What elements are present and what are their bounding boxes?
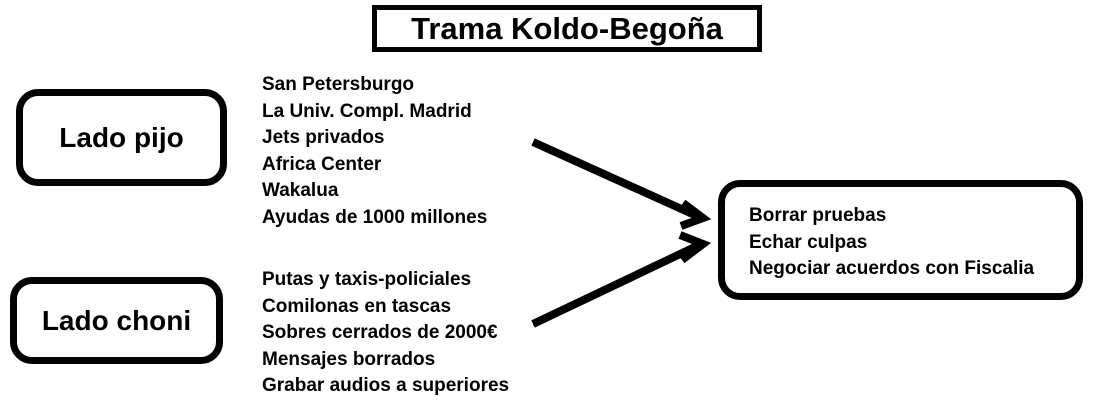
list-item: Negociar acuerdos con Fiscalia (749, 256, 1034, 283)
list-item: Wakalua (262, 178, 487, 205)
diagram-canvas: Trama Koldo-Begoña Lado pijo San Petersb… (0, 0, 1097, 406)
lado-pijo-label: Lado pijo (59, 122, 183, 154)
list-item: Echar culpas (749, 230, 1034, 257)
list-item: Putas y taxis-policiales (262, 267, 509, 294)
list-item: Mensajes borrados (262, 347, 509, 374)
lado-pijo-list: San Petersburgo La Univ. Compl. Madrid J… (262, 72, 487, 231)
list-item: Sobres cerrados de 2000€ (262, 320, 509, 347)
list-item: Ayudas de 1000 millones (262, 205, 487, 232)
list-item: San Petersburgo (262, 72, 487, 99)
list-item: Africa Center (262, 152, 487, 179)
lado-choni-label: Lado choni (42, 305, 191, 337)
list-item: Borrar pruebas (749, 203, 1034, 230)
arrow-choni-to-outcome (533, 235, 703, 324)
list-item: Comilonas en tascas (262, 294, 509, 321)
diagram-title-box: Trama Koldo-Begoña (372, 5, 762, 52)
outcome-list: Borrar pruebas Echar culpas Negociar acu… (749, 203, 1034, 283)
lado-choni-list: Putas y taxis-policiales Comilonas en ta… (262, 267, 509, 400)
page-title: Trama Koldo-Begoña (411, 11, 723, 47)
lado-pijo-box: Lado pijo (16, 89, 227, 186)
lado-choni-box: Lado choni (10, 277, 223, 364)
list-item: Grabar audios a superiores (262, 373, 509, 400)
list-item: Jets privados (262, 125, 487, 152)
list-item: La Univ. Compl. Madrid (262, 99, 487, 126)
arrow-pijo-to-outcome (533, 142, 703, 226)
outcome-box: Borrar pruebas Echar culpas Negociar acu… (718, 180, 1083, 300)
